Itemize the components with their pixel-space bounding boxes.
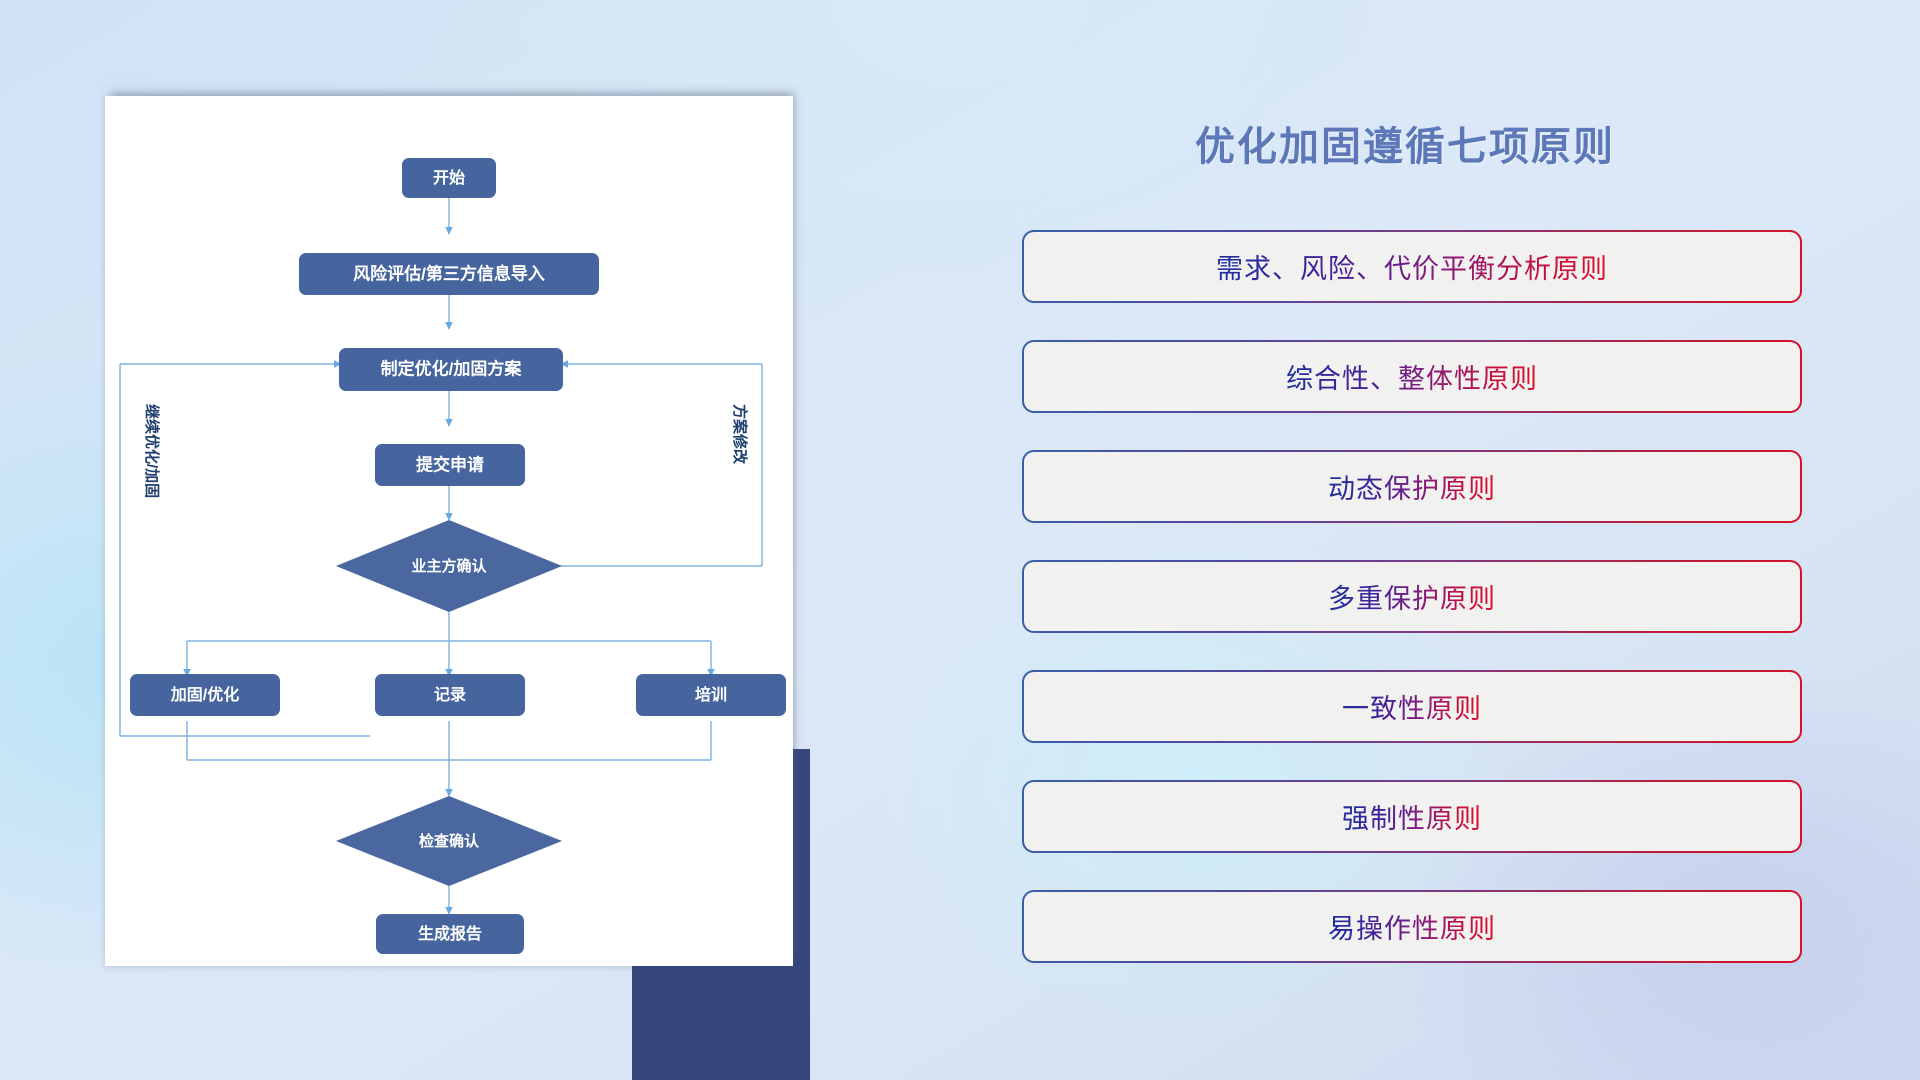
principle-border: 综合性、整体性原则 — [1022, 340, 1802, 413]
flow-node-harden-label: 加固/优化 — [170, 685, 239, 704]
principle-label: 综合性、整体性原则 — [1286, 357, 1538, 396]
principle-inner: 多重保护原则 — [1024, 562, 1799, 630]
principle-border: 一致性原则 — [1022, 670, 1802, 743]
flow-node-owner-label: 业主方确认 — [411, 557, 487, 575]
principle-border: 多重保护原则 — [1022, 560, 1802, 633]
flow-node-report-label: 生成报告 — [418, 924, 482, 943]
flowchart-panel: 开始 风险评估/第三方信息导入 制定优化/加固方案 提交申请 业主方确认 加固/… — [105, 96, 793, 966]
principle-border: 需求、风险、代价平衡分析原则 — [1022, 230, 1802, 303]
flow-node-record-label: 记录 — [434, 686, 466, 704]
principle-label: 一致性原则 — [1342, 687, 1482, 726]
principle-label: 强制性原则 — [1342, 797, 1482, 836]
slide-canvas: 开始 风险评估/第三方信息导入 制定优化/加固方案 提交申请 业主方确认 加固/… — [0, 0, 1920, 1080]
principle-inner: 综合性、整体性原则 — [1024, 342, 1799, 410]
principle-label: 动态保护原则 — [1328, 467, 1496, 506]
principle-inner: 需求、风险、代价平衡分析原则 — [1024, 232, 1799, 300]
flow-node-check-label: 检查确认 — [419, 832, 480, 850]
page-title: 优化加固遵循七项原则 — [1000, 114, 1810, 172]
flow-edge-label-continue: 继续优化/加固 — [143, 404, 161, 498]
principles-list: 需求、风险、代价平衡分析原则 综合性、整体性原则 动态保护原则 — [1022, 230, 1802, 1000]
flow-node-submit-label: 提交申请 — [416, 454, 484, 474]
principle-item-4[interactable]: 多重保护原则 — [1022, 560, 1802, 633]
principle-item-7[interactable]: 易操作性原则 — [1022, 890, 1802, 963]
principle-inner: 易操作性原则 — [1024, 892, 1799, 960]
principle-border: 强制性原则 — [1022, 780, 1802, 853]
principle-item-2[interactable]: 综合性、整体性原则 — [1022, 340, 1802, 413]
principle-border: 易操作性原则 — [1022, 890, 1802, 963]
principles-panel: 优化加固遵循七项原则 需求、风险、代价平衡分析原则 综合性、整体性原则 — [1000, 96, 1810, 996]
principle-inner: 一致性原则 — [1024, 672, 1799, 740]
principle-label: 需求、风险、代价平衡分析原则 — [1216, 247, 1608, 286]
flowchart-svg: 开始 风险评估/第三方信息导入 制定优化/加固方案 提交申请 业主方确认 加固/… — [105, 96, 793, 966]
flow-node-start-label: 开始 — [433, 168, 465, 187]
principle-label: 易操作性原则 — [1328, 907, 1496, 946]
flow-node-plan-label: 制定优化/加固方案 — [381, 358, 523, 378]
principle-item-5[interactable]: 一致性原则 — [1022, 670, 1802, 743]
flow-edge-label-revise: 方案修改 — [731, 404, 749, 465]
principle-inner: 动态保护原则 — [1024, 452, 1799, 520]
principle-item-6[interactable]: 强制性原则 — [1022, 780, 1802, 853]
principle-border: 动态保护原则 — [1022, 450, 1802, 523]
principle-inner: 强制性原则 — [1024, 782, 1799, 850]
principle-item-3[interactable]: 动态保护原则 — [1022, 450, 1802, 523]
principle-label: 多重保护原则 — [1328, 577, 1496, 616]
flow-node-risk-label: 风险评估/第三方信息导入 — [353, 263, 545, 283]
flow-node-train-label: 培训 — [695, 685, 727, 704]
principle-item-1[interactable]: 需求、风险、代价平衡分析原则 — [1022, 230, 1802, 303]
